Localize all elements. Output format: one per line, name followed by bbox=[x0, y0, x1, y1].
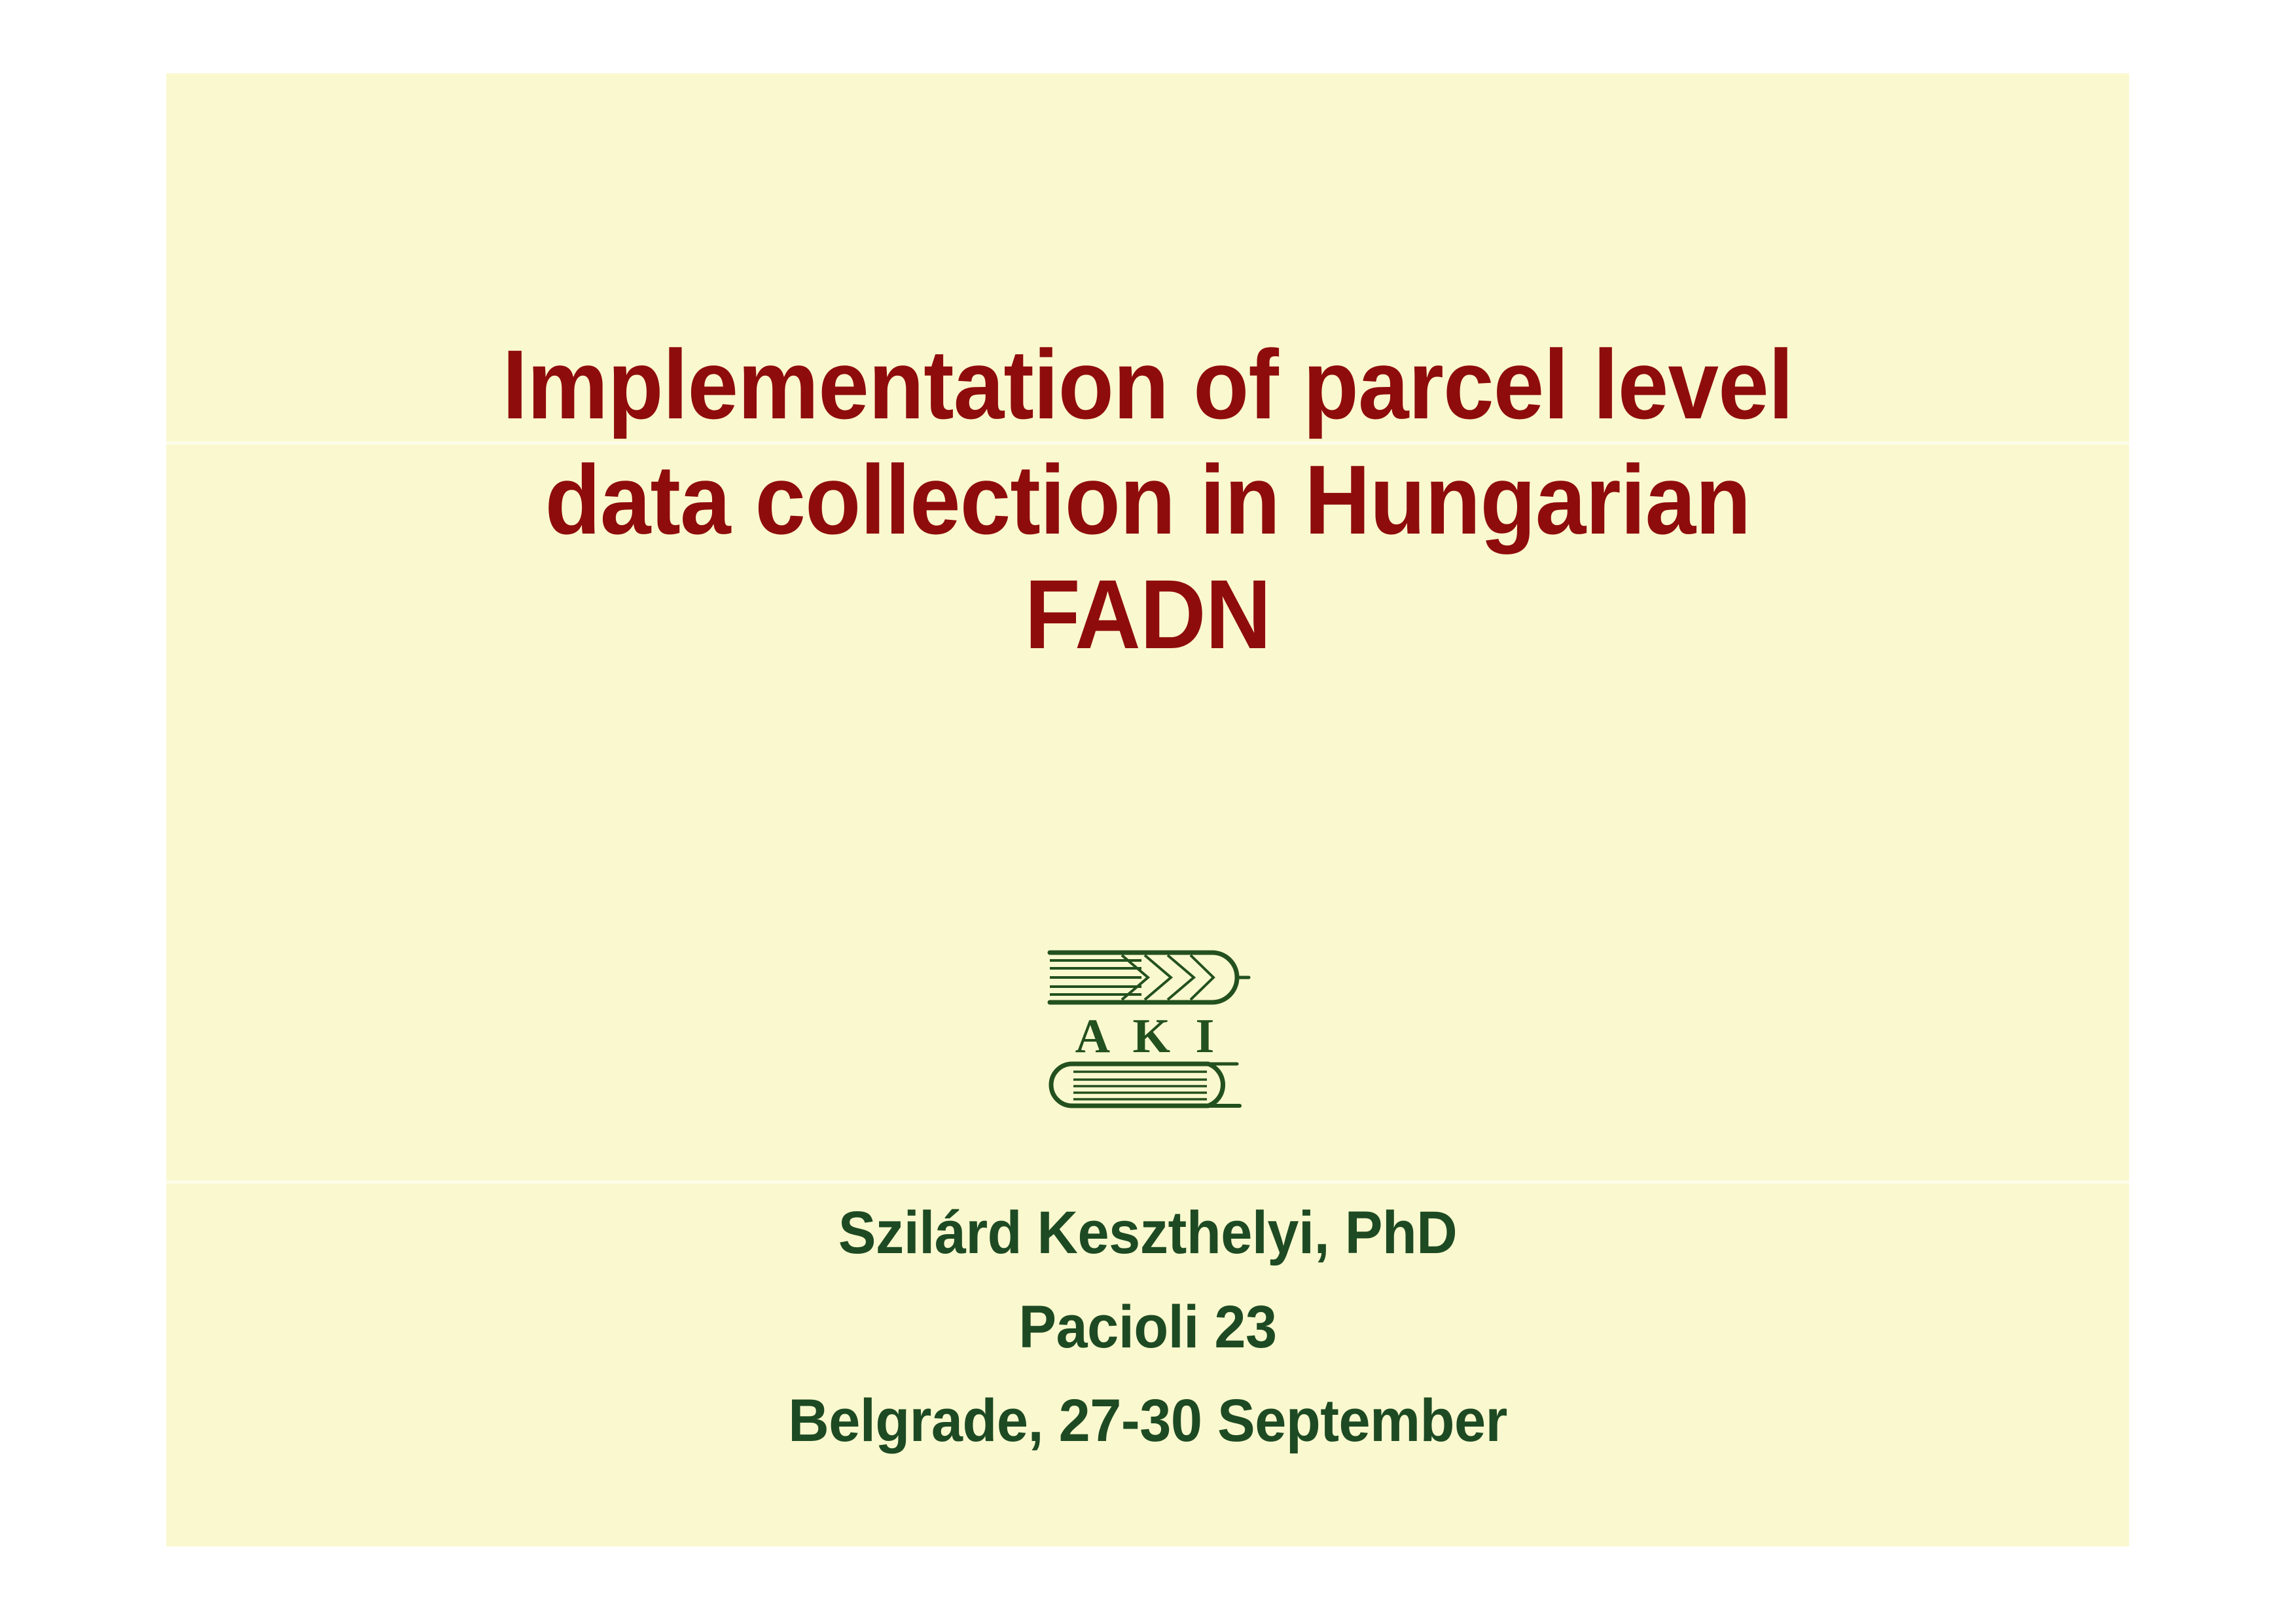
wheat-ear-icon bbox=[1050, 953, 1249, 1002]
event-location-date: Belgrade, 27-30 September bbox=[225, 1374, 2070, 1468]
aki-logo: A K I bbox=[1043, 941, 1253, 1118]
title-line-3: FADN bbox=[235, 557, 2060, 672]
aki-wordmark: A K I bbox=[1075, 1010, 1221, 1063]
presenter-info: Szilárd Keszthelyi, PhD Pacioli 23 Belgr… bbox=[166, 1186, 2129, 1468]
book-icon bbox=[1051, 1064, 1240, 1106]
presenter-name: Szilárd Keszthelyi, PhD bbox=[225, 1186, 2070, 1281]
svg-text:A K I: A K I bbox=[1075, 1010, 1221, 1063]
title-line-2: data collection in Hungarian bbox=[235, 443, 2060, 558]
event-name: Pacioli 23 bbox=[225, 1281, 2070, 1375]
scan-seam-lower bbox=[166, 1180, 2129, 1184]
logo-container: A K I bbox=[166, 941, 2129, 1118]
slide-title: Implementation of parcel level data coll… bbox=[166, 327, 2129, 672]
presentation-slide: Implementation of parcel level data coll… bbox=[166, 73, 2129, 1546]
page-canvas: Implementation of parcel level data coll… bbox=[0, 0, 2296, 1623]
title-line-1: Implementation of parcel level bbox=[235, 327, 2060, 443]
